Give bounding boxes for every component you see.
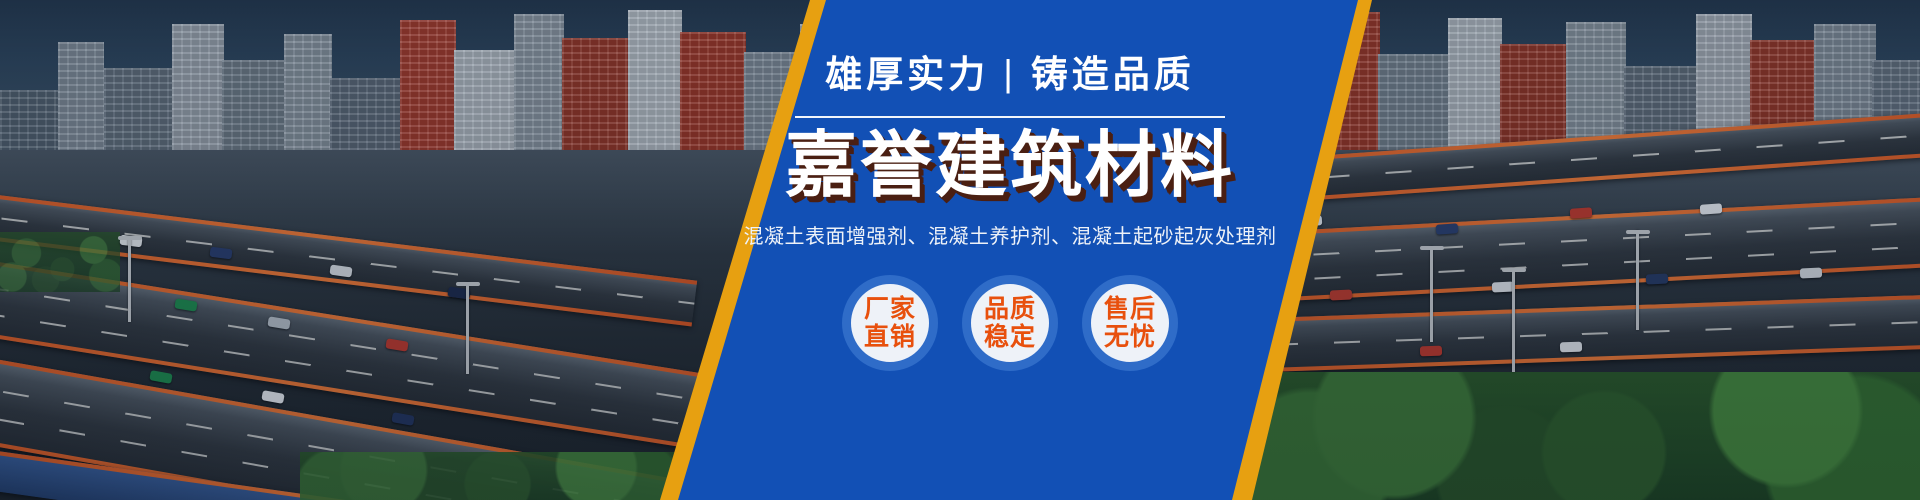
badge-factory-direct[interactable]: 厂家 直销 bbox=[842, 275, 938, 371]
badge-line-1: 售后 bbox=[1104, 295, 1156, 323]
badge-stable-quality[interactable]: 品质 稳定 bbox=[962, 275, 1058, 371]
badge-after-sales[interactable]: 售后 无忧 bbox=[1082, 275, 1178, 371]
tagline: 雄厚实力|铸造品质 bbox=[825, 56, 1195, 93]
product-subtitle: 混凝土表面增强剂、混凝土养护剂、混凝土起砂起灰处理剂 bbox=[744, 220, 1277, 249]
company-title: 嘉誉建筑材料 bbox=[785, 128, 1235, 206]
tagline-right: 铸造品质 bbox=[1031, 54, 1195, 95]
badge-line-1: 品质 bbox=[984, 295, 1036, 323]
tagline-left: 雄厚实力 bbox=[825, 54, 989, 95]
banner-content: 雄厚实力|铸造品质 嘉誉建筑材料 混凝土表面增强剂、混凝土养护剂、混凝土起砂起灰… bbox=[760, 0, 1260, 500]
badge-line-2: 无忧 bbox=[1104, 323, 1156, 351]
divider-rule bbox=[795, 116, 1225, 118]
badge-line-2: 稳定 bbox=[984, 323, 1036, 351]
badge-line-1: 厂家 bbox=[864, 295, 916, 323]
feature-badges: 厂家 直销 品质 稳定 售后 无忧 bbox=[842, 275, 1178, 371]
promotional-banner: 雄厚实力|铸造品质 嘉誉建筑材料 混凝土表面增强剂、混凝土养护剂、混凝土起砂起灰… bbox=[0, 0, 1920, 500]
tagline-divider: | bbox=[1003, 55, 1017, 92]
badge-line-2: 直销 bbox=[864, 323, 916, 351]
